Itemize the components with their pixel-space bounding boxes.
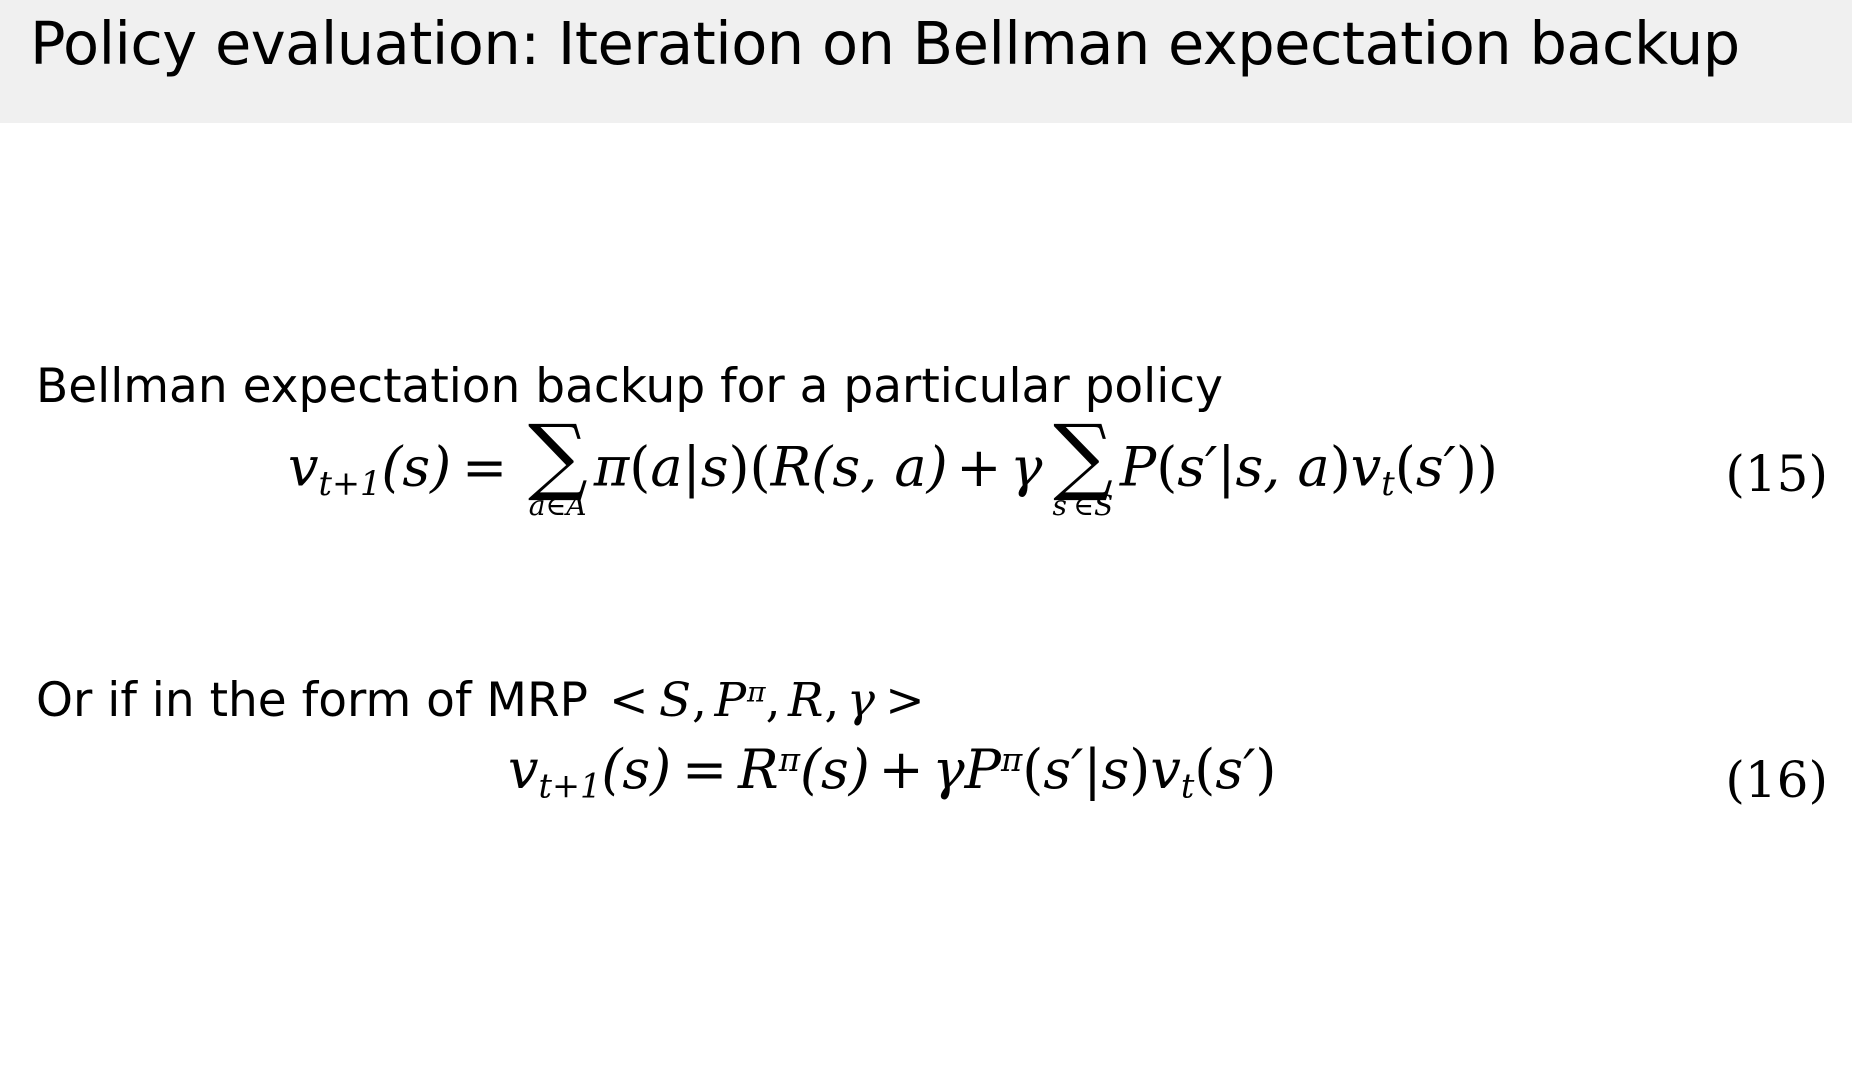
eq15-pi: π xyxy=(594,436,630,499)
eq15-pi-close: ) xyxy=(728,436,749,499)
eq15-v-argument: (s) xyxy=(381,436,451,499)
mrp-tuple: <S,Pπ,R,γ> xyxy=(609,673,925,728)
eq15-summation-action: ∑a∈A xyxy=(528,423,588,520)
eq15-sum1-in: ∈ xyxy=(545,489,566,522)
eq15-sum2-set: S xyxy=(1094,489,1114,522)
eq16-R: R xyxy=(738,738,779,801)
eq16-P-s: s xyxy=(1102,738,1130,801)
mrp-text-prefix: Or if in the form of MRP xyxy=(36,673,588,728)
eq16-vt-subscript: t xyxy=(1181,766,1194,805)
sigma-icon: ∑ xyxy=(528,423,588,488)
eq15-vt: v xyxy=(1351,436,1382,499)
intro-text: Bellman expectation backup for a particu… xyxy=(36,362,1223,411)
mrp-angle-open: < xyxy=(609,673,648,728)
slide-title-bar: Policy evaluation: Iteration on Bellman … xyxy=(0,0,1852,123)
mrp-text-line: Or if in the form of MRP<S,Pπ,R,γ> xyxy=(36,676,925,725)
mrp-state-set: S xyxy=(659,673,692,728)
mrp-angle-close: > xyxy=(885,673,924,728)
eq15-P-open: ( xyxy=(1156,436,1177,499)
eq15-v: v xyxy=(288,436,319,499)
eq15-sum2-var: s′ xyxy=(1052,489,1073,522)
eq15-summation-state: ∑s′∈S xyxy=(1052,423,1113,520)
mrp-reward-function: R xyxy=(788,673,824,728)
eq15-R-args: (s, a) xyxy=(811,436,947,499)
eq15-vt-sprime: s′ xyxy=(1416,436,1456,499)
eq16-vt: v xyxy=(1150,738,1181,801)
eq15-pi-s: s xyxy=(701,436,729,499)
eq15-vt-subscript: t xyxy=(1381,464,1394,503)
eq15-sum1-set: A xyxy=(566,489,587,522)
mrp-transition-matrix: P xyxy=(714,673,747,728)
eq16-vt-close: ) xyxy=(1255,738,1276,801)
eq16-v-argument: (s) xyxy=(601,738,671,801)
eq15-gamma: γ xyxy=(1010,436,1042,499)
eq16-P-bar: | xyxy=(1083,738,1101,801)
eq15-equals: = xyxy=(462,436,507,499)
eq15-P: P xyxy=(1120,436,1156,499)
eq15-vt-open: ( xyxy=(1395,436,1416,499)
page-title: Policy evaluation: Iteration on Bellman … xyxy=(30,14,1740,73)
eq16-P-sprime: s′ xyxy=(1043,738,1083,801)
equation-15-number: (15) xyxy=(1725,445,1828,503)
eq16-P-close: ) xyxy=(1129,738,1150,801)
eq15-sum1-limit: a∈A xyxy=(528,492,588,520)
eq16-vt-sprime: s′ xyxy=(1215,738,1255,801)
equation-16-number: (16) xyxy=(1725,751,1828,809)
eq16-plus: + xyxy=(878,738,923,801)
eq16-gamma: γ xyxy=(932,738,964,801)
equation-16-expression: vt+1(s)=Rπ(s)+γPπ(s′|s)vt(s′) xyxy=(508,743,1276,803)
mrp-gamma: γ xyxy=(847,673,875,728)
eq15-sum1-var: a xyxy=(529,489,546,522)
eq15-group-close: ) xyxy=(1477,436,1498,499)
eq16-P-superscript: π xyxy=(1001,741,1022,779)
eq15-sum2-limit: s′∈S xyxy=(1052,492,1113,520)
eq15-pi-a: a xyxy=(650,436,682,499)
eq15-P-sprime: s′ xyxy=(1177,436,1217,499)
mrp-comma-2: , xyxy=(766,673,781,728)
eq15-plus: + xyxy=(956,436,1001,499)
eq16-R-superscript: π xyxy=(779,741,800,779)
eq15-P-s-a: s, a xyxy=(1235,436,1329,499)
slide-content-area: Bellman expectation backup for a particu… xyxy=(0,123,1852,1080)
eq16-R-argument: (s) xyxy=(800,738,870,801)
eq15-pi-bar: | xyxy=(683,436,701,499)
mrp-comma-3: , xyxy=(824,673,839,728)
mrp-comma-1: , xyxy=(692,673,707,728)
eq16-P: P xyxy=(965,738,1001,801)
eq15-P-bar: | xyxy=(1217,436,1235,499)
eq15-vt-close: ) xyxy=(1456,436,1477,499)
eq16-P-open: ( xyxy=(1022,738,1043,801)
sigma-icon: ∑ xyxy=(1052,423,1113,488)
mrp-transition-superscript: π xyxy=(747,675,766,708)
eq16-vt-open: ( xyxy=(1194,738,1215,801)
eq15-pi-open: ( xyxy=(629,436,650,499)
eq15-v-subscript: t+1 xyxy=(319,464,382,503)
eq16-v-subscript: t+1 xyxy=(539,766,602,805)
eq16-equals: = xyxy=(682,738,727,801)
equation-15-expression: vt+1(s)=∑a∈Aπ(a|s)(R(s, a)+γ∑s′∈SP(s′|s,… xyxy=(288,423,1498,520)
eq15-sum2-in: ∈ xyxy=(1073,489,1094,522)
eq16-v: v xyxy=(508,738,539,801)
eq15-P-close: ) xyxy=(1330,436,1351,499)
eq15-R: R xyxy=(771,436,812,499)
eq15-group-open: ( xyxy=(750,436,771,499)
